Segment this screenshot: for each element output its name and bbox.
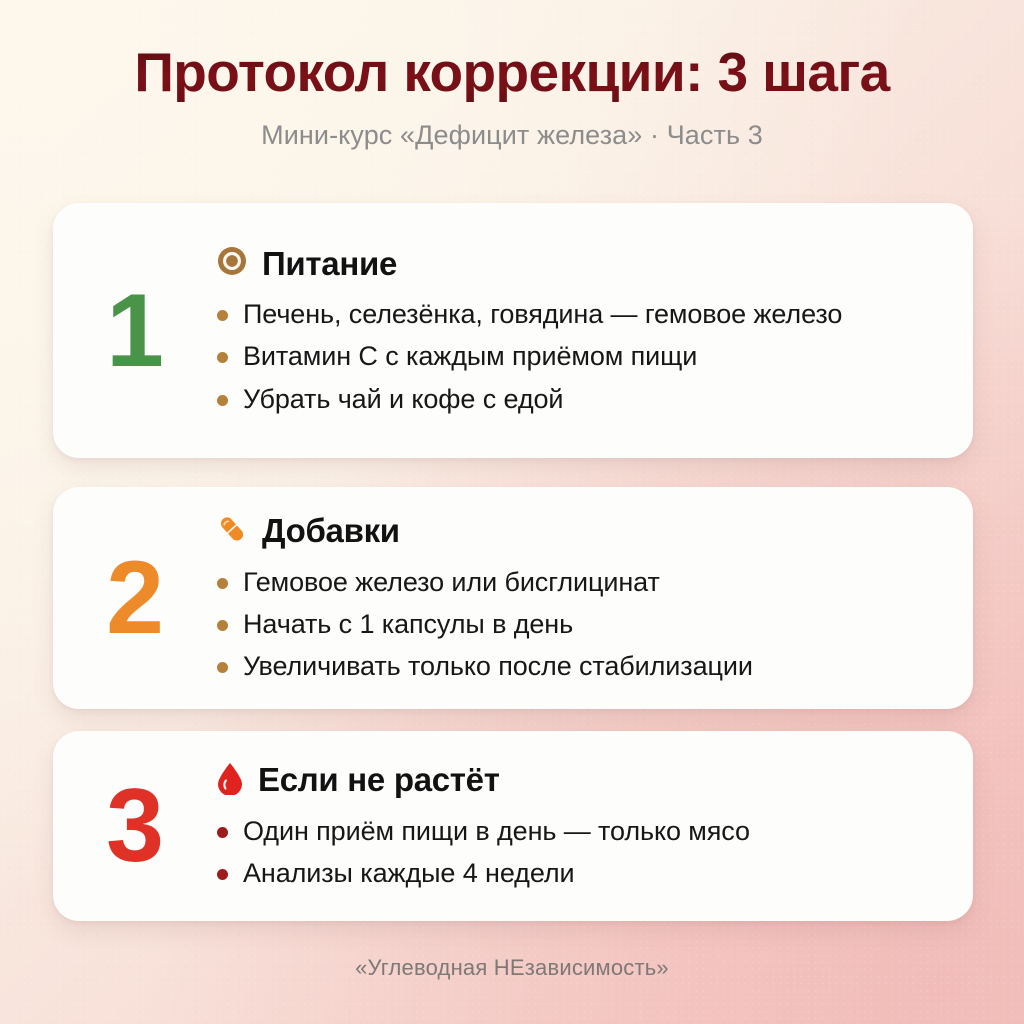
step-title-1: Питание xyxy=(262,245,397,283)
list-item: Витамин C с каждым приёмом пищи xyxy=(215,339,933,374)
step-bullets-3: Один приём пищи в день — только мясо Ана… xyxy=(215,814,933,891)
step-number-2: 2 xyxy=(53,546,215,650)
steps-list: 1 Питание Печень, селезёнка, говядина — … xyxy=(53,203,973,921)
step-bullets-2: Гемовое железо или бисглицинат Начать с … xyxy=(215,565,933,684)
step-title-2: Добавки xyxy=(262,512,400,550)
blood-drop-icon xyxy=(215,761,245,800)
footer-brand: «Углеводная НЕзависимость» xyxy=(0,955,1024,981)
step-content-1: Питание Печень, селезёнка, говядина — ге… xyxy=(215,244,943,416)
list-item: Печень, селезёнка, говядина — гемовое же… xyxy=(215,297,933,332)
step-number-1: 1 xyxy=(53,279,215,383)
step-content-2: Добавки Гемовое железо или бисглицинат Н… xyxy=(215,512,943,684)
page-title: Протокол коррекции: 3 шага xyxy=(0,44,1024,102)
step-number-3: 3 xyxy=(53,774,215,878)
step-title-3: Если не растёт xyxy=(258,761,500,799)
step-header-2: Добавки xyxy=(215,512,933,551)
list-item: Гемовое железо или бисглицинат xyxy=(215,565,933,600)
step-card-3: 3 Если не растёт Один приём пищи в день … xyxy=(53,731,973,921)
list-item: Один приём пищи в день — только мясо xyxy=(215,814,933,849)
step-bullets-1: Печень, селезёнка, говядина — гемовое же… xyxy=(215,297,933,416)
poster-header: Протокол коррекции: 3 шага Мини-курс «Де… xyxy=(0,0,1024,151)
step-header-3: Если не растёт xyxy=(215,761,933,800)
step-content-3: Если не растёт Один приём пищи в день — … xyxy=(215,761,943,891)
capsule-pill-icon xyxy=(215,512,249,551)
poster-canvas: Протокол коррекции: 3 шага Мини-курс «Де… xyxy=(0,0,1024,1024)
ring-bowl-icon xyxy=(215,244,249,283)
step-header-1: Питание xyxy=(215,244,933,283)
list-item: Начать с 1 капсулы в день xyxy=(215,607,933,642)
list-item: Убрать чай и кофе с едой xyxy=(215,382,933,417)
list-item: Анализы каждые 4 недели xyxy=(215,856,933,891)
step-card-2: 2 Добавки Гемовое xyxy=(53,487,973,709)
list-item: Увеличивать только после стабилизации xyxy=(215,649,933,684)
page-subtitle: Мини-курс «Дефицит железа» · Часть 3 xyxy=(0,120,1024,151)
step-card-1: 1 Питание Печень, селезёнка, говядина — … xyxy=(53,203,973,458)
